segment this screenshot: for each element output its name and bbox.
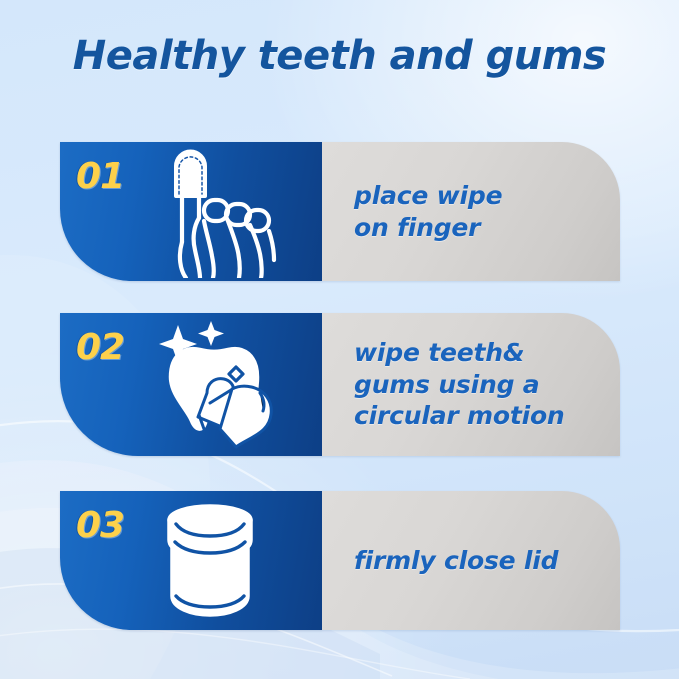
step-3-number: 03: [76, 505, 124, 546]
step-card-2[interactable]: 02: [60, 313, 620, 456]
step-card-1[interactable]: 01: [60, 142, 620, 281]
step-2-caption-line-2: gums using a: [354, 369, 565, 401]
step-1-caption-line-1: place wipe: [354, 180, 502, 212]
step-3-caption: firmly close lid: [322, 545, 572, 577]
step-2-caption: wipe teeth& gums using a circular motion: [322, 337, 579, 432]
hand-finger-wipe-icon: [148, 142, 322, 281]
step-2-number: 02: [76, 327, 124, 368]
step-card-3[interactable]: 03: [60, 491, 620, 630]
infographic-root: Healthy teeth and gums 01: [0, 0, 679, 679]
tooth-sparkle-wipe-icon: [148, 313, 322, 456]
step-1-gray-panel: place wipe on finger: [322, 142, 620, 281]
step-3-gray-panel: firmly close lid: [322, 491, 620, 630]
step-3-caption-line-1: firmly close lid: [354, 545, 558, 577]
step-2-caption-line-1: wipe teeth&: [354, 337, 565, 369]
step-2-gray-panel: wipe teeth& gums using a circular motion: [322, 313, 620, 456]
step-2-caption-line-3: circular motion: [354, 400, 565, 432]
step-1-caption: place wipe on finger: [322, 180, 516, 243]
jar-container-lid-icon: [148, 491, 322, 630]
step-1-number: 01: [76, 156, 124, 197]
step-1-blue-panel: 01: [60, 142, 322, 281]
step-3-blue-panel: 03: [60, 491, 322, 630]
step-2-blue-panel: 02: [60, 313, 322, 456]
step-1-caption-line-2: on finger: [354, 212, 502, 244]
page-title: Healthy teeth and gums: [0, 34, 679, 78]
